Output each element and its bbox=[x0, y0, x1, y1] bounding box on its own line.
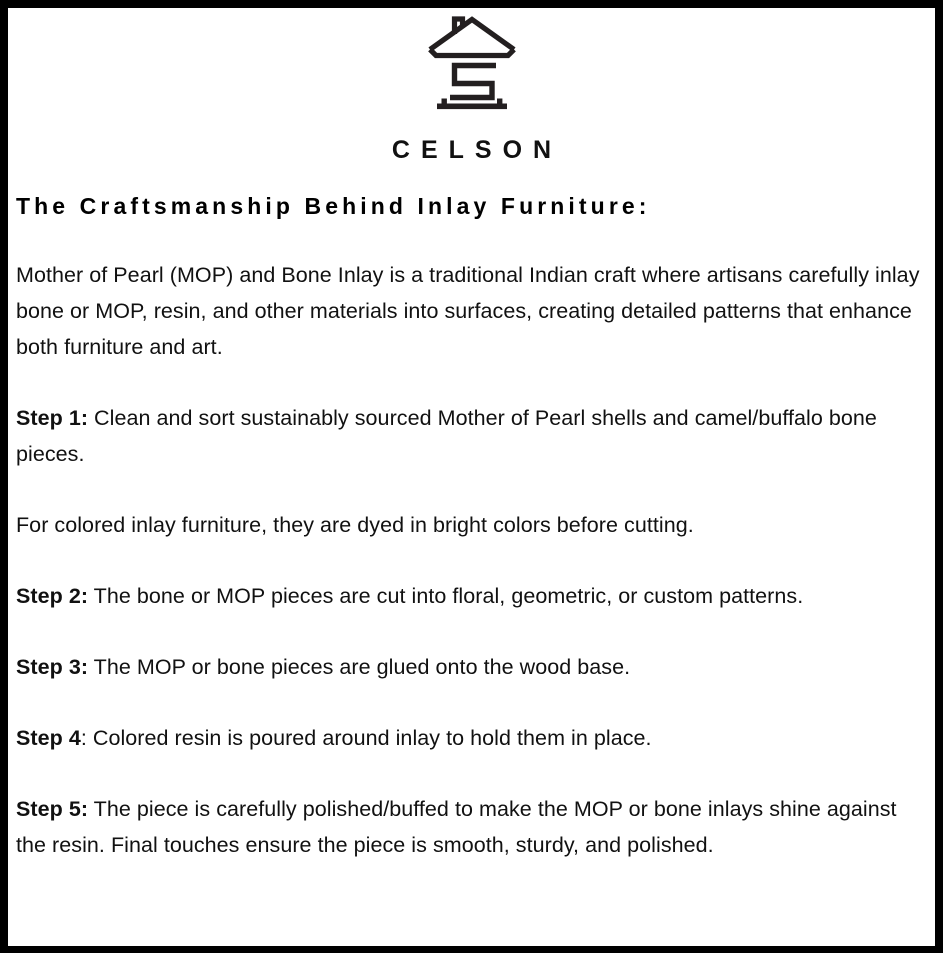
intro-paragraph: Mother of Pearl (MOP) and Bone Inlay is … bbox=[16, 257, 927, 365]
brand-header: CELSON bbox=[8, 8, 935, 165]
page-title: The Craftsmanship Behind Inlay Furniture… bbox=[16, 193, 927, 221]
spacer bbox=[16, 221, 927, 257]
infographic-page: CELSON The Craftsmanship Behind Inlay Fu… bbox=[0, 0, 943, 953]
spacer bbox=[16, 756, 927, 791]
step-text-1: Clean and sort sustainably sourced Mothe… bbox=[16, 406, 877, 466]
step-label-5: Step 5: bbox=[16, 797, 88, 821]
step-text-3: The MOP or bone pieces are glued onto th… bbox=[88, 655, 630, 679]
step-text-5: The piece is carefully polished/buffed t… bbox=[16, 797, 897, 857]
step-label-3: Step 3: bbox=[16, 655, 88, 679]
content-column: The Craftsmanship Behind Inlay Furniture… bbox=[8, 193, 935, 863]
step-paragraph-2: Step 2: The bone or MOP pieces are cut i… bbox=[16, 578, 927, 614]
step-paragraph-4: Step 4: Colored resin is poured around i… bbox=[16, 720, 927, 756]
house-temple-logo-icon bbox=[424, 13, 520, 117]
spacer bbox=[16, 472, 927, 507]
note-text-dyeing: For colored inlay furniture, they are dy… bbox=[16, 513, 694, 537]
step-text-2: The bone or MOP pieces are cut into flor… bbox=[88, 584, 803, 608]
spacer bbox=[16, 614, 927, 649]
step-paragraph-5: Step 5: The piece is carefully polished/… bbox=[16, 791, 927, 863]
step-label-2: Step 2: bbox=[16, 584, 88, 608]
step-label-4: Step 4 bbox=[16, 726, 81, 750]
brand-wordmark: CELSON bbox=[8, 136, 935, 165]
step-paragraph-1: Step 1: Clean and sort sustainably sourc… bbox=[16, 400, 927, 472]
spacer bbox=[16, 685, 927, 720]
spacer bbox=[16, 365, 927, 400]
step-label-1: Step 1: bbox=[16, 406, 88, 430]
step-paragraph-3: Step 3: The MOP or bone pieces are glued… bbox=[16, 649, 927, 685]
step-text-4: Colored resin is poured around inlay to … bbox=[87, 726, 652, 750]
note-paragraph-dyeing: For colored inlay furniture, they are dy… bbox=[16, 507, 927, 543]
spacer bbox=[16, 543, 927, 578]
